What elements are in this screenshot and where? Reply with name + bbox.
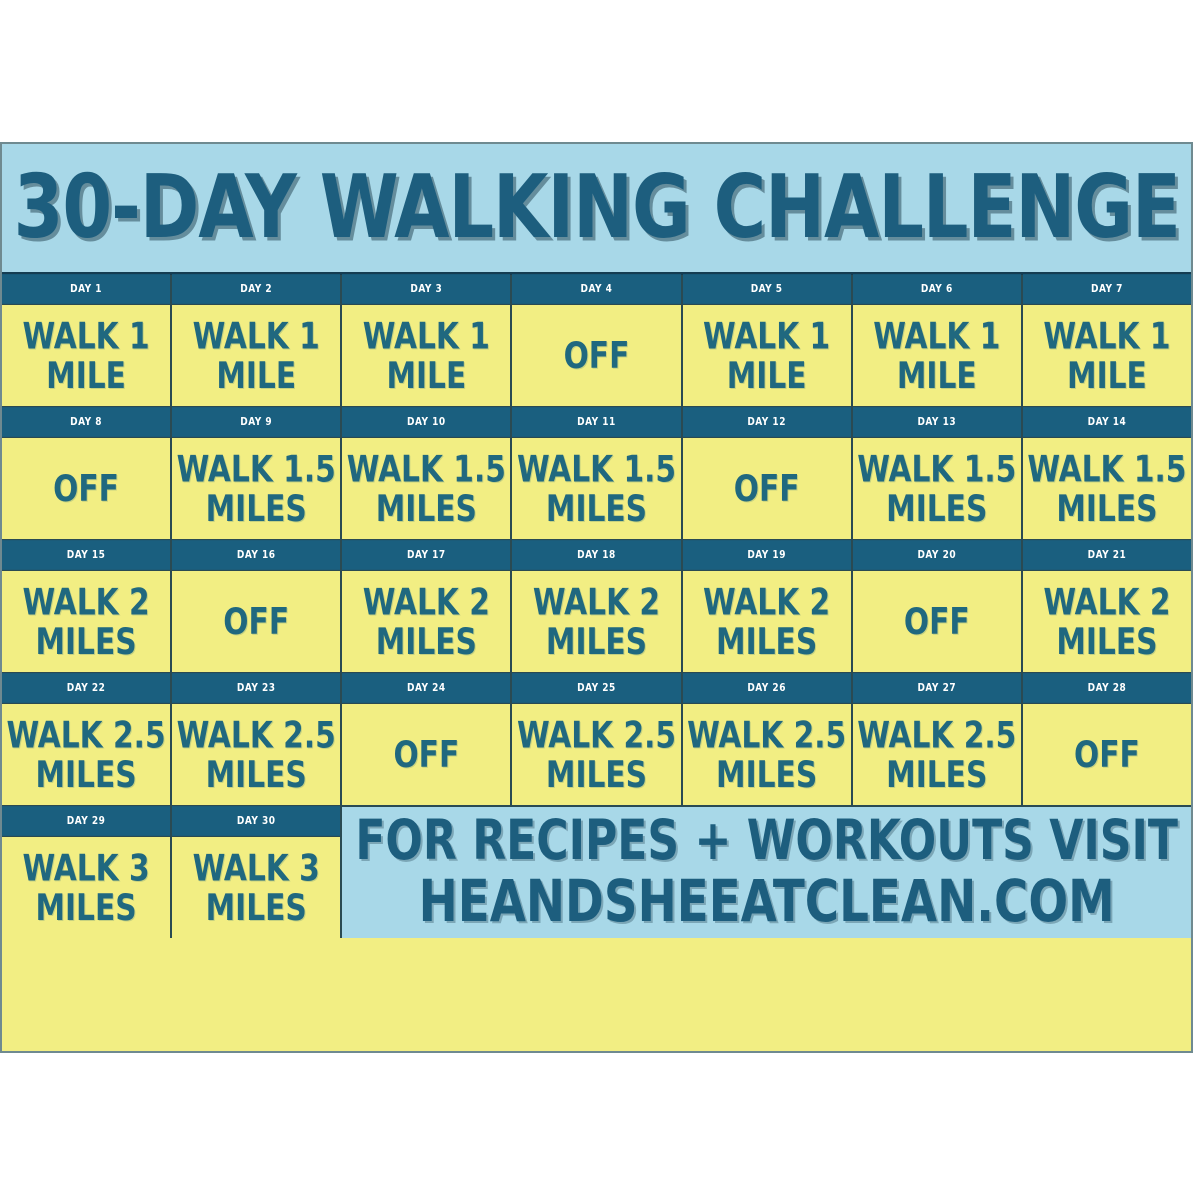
day-task-29: WALK 3MILES xyxy=(2,837,170,938)
day-task-10: WALK 1.5MILES xyxy=(342,438,510,539)
day-header-27: DAY 27 xyxy=(853,673,1021,703)
day-header-30: DAY 30 xyxy=(172,806,340,836)
day-header-15: DAY 15 xyxy=(2,540,170,570)
day-task-28: OFF xyxy=(1023,704,1191,805)
day-header-26: DAY 26 xyxy=(683,673,851,703)
day-task-16: OFF xyxy=(172,571,340,672)
day-task-13: WALK 1.5MILES xyxy=(853,438,1021,539)
day-header-10: DAY 10 xyxy=(342,407,510,437)
day-header-23: DAY 23 xyxy=(172,673,340,703)
day-task-8: OFF xyxy=(2,438,170,539)
day-header-17: DAY 17 xyxy=(342,540,510,570)
day-task-26: WALK 2.5MILES xyxy=(683,704,851,805)
day-header-5: DAY 5 xyxy=(683,274,851,304)
day-task-21: WALK 2MILES xyxy=(1023,571,1191,672)
day-header-24: DAY 24 xyxy=(342,673,510,703)
day-task-11: WALK 1.5MILES xyxy=(512,438,680,539)
day-header-8: DAY 8 xyxy=(2,407,170,437)
day-task-1: WALK 1MILE xyxy=(2,305,170,406)
day-header-3: DAY 3 xyxy=(342,274,510,304)
day-task-3: WALK 1MILE xyxy=(342,305,510,406)
day-header-2: DAY 2 xyxy=(172,274,340,304)
day-header-11: DAY 11 xyxy=(512,407,680,437)
day-task-12: OFF xyxy=(683,438,851,539)
day-header-13: DAY 13 xyxy=(853,407,1021,437)
day-header-6: DAY 6 xyxy=(853,274,1021,304)
day-header-1: DAY 1 xyxy=(2,274,170,304)
day-header-16: DAY 16 xyxy=(172,540,340,570)
promo-block: FOR RECIPES + WORKOUTS VISIT HEANDSHEEAT… xyxy=(342,807,1191,938)
page-title: 30-DAY WALKING CHALLENGE xyxy=(5,167,1188,250)
day-task-27: WALK 2.5MILES xyxy=(853,704,1021,805)
day-task-18: WALK 2MILES xyxy=(512,571,680,672)
day-task-2: WALK 1MILE xyxy=(172,305,340,406)
walking-challenge-poster: 30-DAY WALKING CHALLENGE DAY 1 DAY 2 DAY… xyxy=(0,142,1193,1053)
day-header-20: DAY 20 xyxy=(853,540,1021,570)
day-task-23: WALK 2.5MILES xyxy=(172,704,340,805)
day-task-9: WALK 1.5MILES xyxy=(172,438,340,539)
day-task-20: OFF xyxy=(853,571,1021,672)
day-header-22: DAY 22 xyxy=(2,673,170,703)
challenge-grid: DAY 1 DAY 2 DAY 3 DAY 4 DAY 5 DAY 6 DAY … xyxy=(2,275,1191,938)
day-task-15: WALK 2MILES xyxy=(2,571,170,672)
day-task-14: WALK 1.5MILES xyxy=(1023,438,1191,539)
day-header-4: DAY 4 xyxy=(512,274,680,304)
day-task-25: WALK 2.5MILES xyxy=(512,704,680,805)
day-header-25: DAY 25 xyxy=(512,673,680,703)
day-header-7: DAY 7 xyxy=(1023,274,1191,304)
day-task-19: WALK 2MILES xyxy=(683,571,851,672)
day-header-18: DAY 18 xyxy=(512,540,680,570)
day-task-7: WALK 1MILE xyxy=(1023,305,1191,406)
promo-line-1: FOR RECIPES + WORKOUTS VISIT xyxy=(355,807,1178,874)
day-header-9: DAY 9 xyxy=(172,407,340,437)
day-task-6: WALK 1MILE xyxy=(853,305,1021,406)
day-task-30: WALK 3MILES xyxy=(172,837,340,938)
day-header-21: DAY 21 xyxy=(1023,540,1191,570)
promo-line-2: HEANDSHEEATCLEAN.COM xyxy=(419,867,1115,938)
day-task-5: WALK 1MILE xyxy=(683,305,851,406)
day-header-14: DAY 14 xyxy=(1023,407,1191,437)
day-task-17: WALK 2MILES xyxy=(342,571,510,672)
day-header-29: DAY 29 xyxy=(2,806,170,836)
day-header-28: DAY 28 xyxy=(1023,673,1191,703)
day-task-22: WALK 2.5MILES xyxy=(2,704,170,805)
poster-title-band: 30-DAY WALKING CHALLENGE xyxy=(2,144,1191,275)
day-header-12: DAY 12 xyxy=(683,407,851,437)
day-task-4: OFF xyxy=(512,305,680,406)
day-header-19: DAY 19 xyxy=(683,540,851,570)
day-task-24: OFF xyxy=(342,704,510,805)
